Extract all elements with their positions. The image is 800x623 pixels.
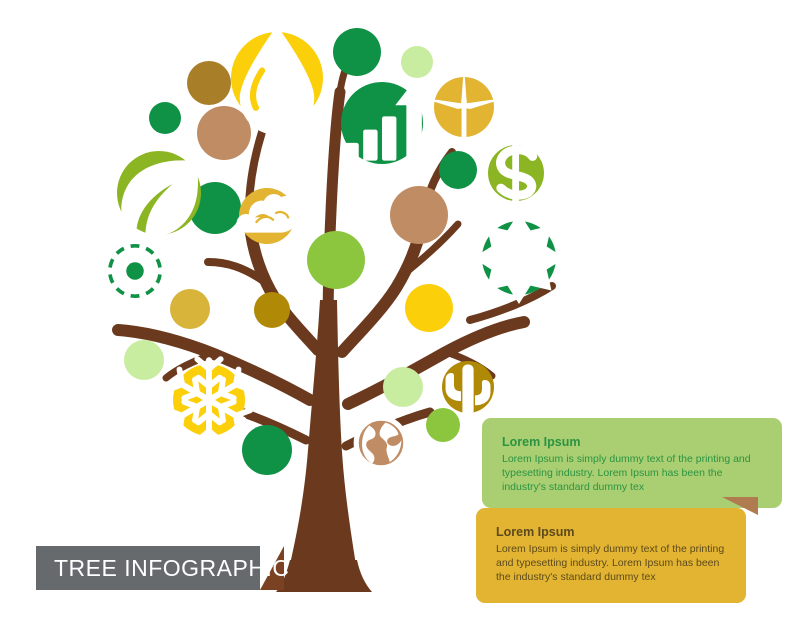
cactus-icon[interactable]: [442, 361, 494, 416]
leaf-dot: [333, 28, 381, 76]
leaf-dot: [405, 284, 453, 332]
callout-green-title: Lorem Ipsum: [502, 434, 762, 450]
page-title: TREE INFOGRAPHIC: [54, 546, 289, 590]
leaf-dot: [426, 408, 460, 442]
callout-yellow-title: Lorem Ipsum: [496, 524, 726, 540]
callout-yellow[interactable]: Lorem Ipsum Lorem Ipsum is simply dummy …: [476, 508, 746, 603]
infographic-canvas: TREE INFOGRAPHIC Lorem Ipsum Lorem Ipsum…: [0, 0, 800, 623]
callout-yellow-body: Lorem Ipsum is simply dummy text of the …: [496, 542, 726, 584]
sun-icon-glyph: [473, 212, 565, 304]
leaf-dot: [170, 289, 210, 329]
callout-green-body: Lorem Ipsum is simply dummy text of the …: [502, 452, 762, 494]
branch-right-low: [348, 322, 524, 404]
leaf-dot: [401, 46, 433, 78]
leaf-icon[interactable]: [117, 151, 201, 237]
title-banner: TREE INFOGRAPHIC: [36, 546, 284, 590]
callout-green[interactable]: Lorem Ipsum Lorem Ipsum is simply dummy …: [482, 418, 782, 508]
leaf-dot: [197, 106, 251, 160]
branch-center-up: [328, 92, 340, 330]
trunk-flare: [276, 560, 372, 592]
leaf-dot: [187, 61, 231, 105]
leaf-dot: [124, 340, 164, 380]
leaf-dot: [254, 292, 290, 328]
leaf-dot: [242, 425, 292, 475]
gear-icon-glyph: [102, 238, 168, 304]
leaf-dot: [383, 367, 423, 407]
wind-turbine-icon[interactable]: [434, 74, 494, 141]
gear-icon[interactable]: [102, 238, 168, 304]
dollar-icon[interactable]: [488, 141, 544, 205]
globe-icon[interactable]: [354, 416, 408, 470]
leaf-dot: [439, 151, 477, 189]
leaf-dot: [149, 102, 181, 134]
sun-icon[interactable]: [473, 212, 565, 304]
leaf-dot: [307, 231, 365, 289]
bar-chart-icon[interactable]: [341, 81, 433, 164]
leaf-dot: [390, 186, 448, 244]
snowflake-icon[interactable]: [166, 357, 252, 443]
